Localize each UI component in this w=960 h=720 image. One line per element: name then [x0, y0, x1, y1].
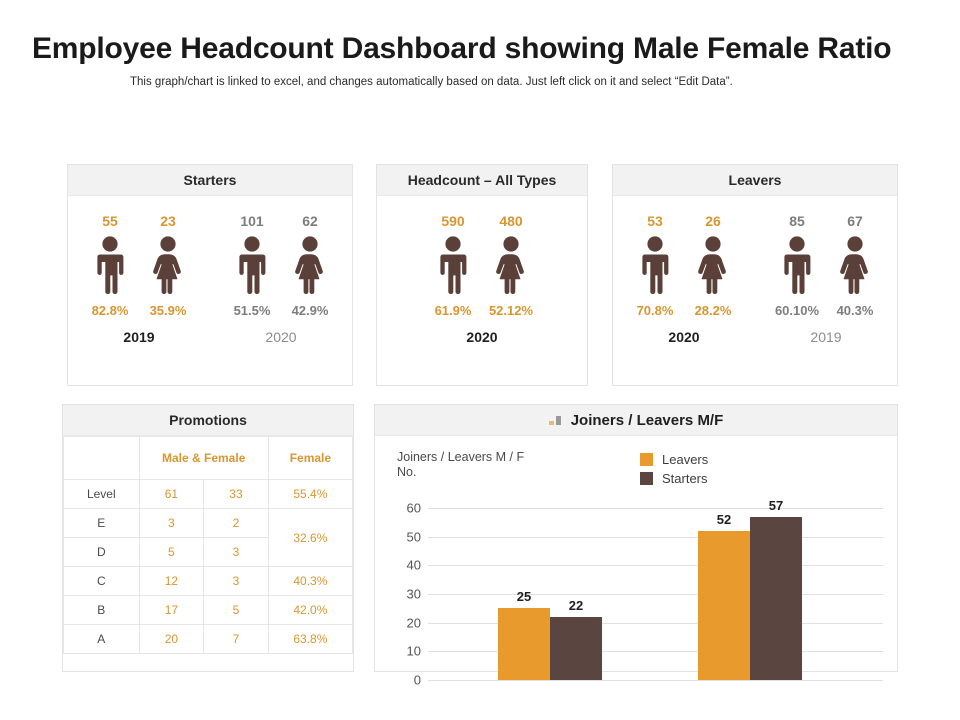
year-label: 2020 — [466, 329, 497, 345]
promotions-cell-percent: 32.6% — [268, 509, 352, 567]
male-figure-icon — [92, 236, 128, 294]
panel-headcount: Headcount – All Types 59061.9%48052.12%2… — [376, 164, 588, 386]
pictogram-female: 6740.3% — [826, 196, 884, 319]
panel-promotions-title: Promotions — [63, 405, 353, 436]
female-figure-icon — [292, 236, 328, 294]
promotions-table-body: Level613355.4%E3232.6%D53C12340.3%B17542… — [64, 480, 353, 654]
chart-axis-title: Joiners / Leavers M / F No. — [397, 450, 524, 480]
year-label: 2020 — [265, 329, 296, 345]
chart-axis-title-line1: Joiners / Leavers M / F — [397, 450, 524, 465]
male-figure-icon — [234, 236, 270, 294]
pictogram-male: 10151.5% — [223, 196, 281, 319]
promotions-cell-male-female: 17 — [139, 596, 204, 625]
pictogram-percent: 40.3% — [837, 302, 874, 319]
pictogram-male: 59061.9% — [424, 196, 482, 319]
pictogram-percent: 51.5% — [234, 302, 271, 319]
promotions-cell-percent: 55.4% — [268, 480, 352, 509]
leavers-pictogram-row: 5370.8%2628.2%20208560.10%6740.3%2019 — [613, 196, 897, 386]
female-figure-icon — [493, 236, 529, 294]
panel-starters-body: 5582.8%2335.9%201910151.5%6242.9%2020 — [68, 196, 352, 386]
pictogram-male: 5582.8% — [81, 196, 139, 319]
promotions-cell-level: Level — [64, 480, 140, 509]
promotions-cell-percent: 42.0% — [268, 596, 352, 625]
male-figure-icon — [435, 236, 471, 294]
panel-promotions: Promotions Male & Female Female Level613… — [62, 404, 354, 672]
bar-starters[interactable] — [550, 617, 602, 680]
pictogram-male: 8560.10% — [768, 196, 826, 319]
promotions-cell-male-female: 12 — [139, 567, 204, 596]
table-row: Level613355.4% — [64, 480, 353, 509]
promotions-cell-male-female: 61 — [139, 480, 204, 509]
starters-pictogram-row: 5582.8%2335.9%201910151.5%6242.9%2020 — [68, 196, 352, 386]
year-label: 2020 — [668, 329, 699, 345]
chart-plot-area: 6050403020100 25225257 — [395, 508, 883, 680]
promotions-table-head: Male & Female Female — [64, 437, 353, 480]
female-figure-icon — [695, 236, 731, 294]
promotions-cell-female: 33 — [204, 480, 269, 509]
pictogram-count: 67 — [847, 212, 863, 230]
pictogram-figure — [493, 232, 529, 294]
legend-swatch-icon — [640, 453, 653, 466]
promotions-cell-level: A — [64, 625, 140, 654]
panel-leavers-title: Leavers — [613, 165, 897, 196]
pictogram-figure — [234, 232, 270, 294]
panel-starters-title: Starters — [68, 165, 352, 196]
panel-joiners-leavers-chart: Joiners / Leavers M/F Joiners / Leavers … — [374, 404, 898, 672]
y-tick-label: 20 — [407, 615, 421, 630]
promotions-header-male-female: Male & Female — [139, 437, 268, 480]
chart-bars: 25225257 — [428, 508, 883, 680]
pictogram-male: 5370.8% — [626, 196, 684, 319]
pictogram-figure — [837, 232, 873, 294]
female-figure-icon — [837, 236, 873, 294]
year-group-2020: 5370.8%2628.2%2020 — [626, 196, 742, 345]
male-figure-icon — [637, 236, 673, 294]
bar-value-label: 25 — [498, 589, 550, 604]
pictogram-count: 62 — [302, 212, 318, 230]
pictogram-percent: 52.12% — [489, 302, 533, 319]
bar-leavers[interactable] — [698, 531, 750, 680]
promotions-cell-level: C — [64, 567, 140, 596]
bar-value-label: 57 — [750, 498, 802, 513]
promotions-cell-percent: 63.8% — [268, 625, 352, 654]
pictogram-pair: 8560.10%6740.3% — [768, 196, 884, 319]
male-figure-icon — [779, 236, 815, 294]
panel-leavers-body: 5370.8%2628.2%20208560.10%6740.3%2019 — [613, 196, 897, 386]
pictogram-count: 23 — [160, 212, 176, 230]
bar-leavers[interactable] — [498, 608, 550, 680]
chart-y-axis-labels: 6050403020100 — [395, 508, 421, 680]
table-row: C12340.3% — [64, 567, 353, 596]
chart-legend: LeaversStarters — [640, 450, 708, 488]
pictogram-female: 48052.12% — [482, 196, 540, 319]
pictogram-figure — [292, 232, 328, 294]
pictogram-percent: 70.8% — [637, 302, 674, 319]
year-label: 2019 — [123, 329, 154, 345]
year-group-2019: 8560.10%6740.3%2019 — [768, 196, 884, 345]
pictogram-count: 55 — [102, 212, 118, 230]
pictogram-figure — [695, 232, 731, 294]
pictogram-percent: 42.9% — [292, 302, 329, 319]
legend-label: Leavers — [662, 452, 708, 467]
female-figure-icon — [150, 236, 186, 294]
panel-promotions-body: Male & Female Female Level613355.4%E3232… — [63, 436, 353, 672]
table-row: A20763.8% — [64, 625, 353, 654]
promotions-cell-male-female: 20 — [139, 625, 204, 654]
pictogram-count: 85 — [789, 212, 805, 230]
year-group-2020: 59061.9%48052.12%2020 — [424, 196, 540, 345]
year-group-2020: 10151.5%6242.9%2020 — [223, 196, 339, 345]
bar-value-label: 22 — [550, 598, 602, 613]
promotions-table: Male & Female Female Level613355.4%E3232… — [63, 436, 353, 654]
promotions-cell-female: 3 — [204, 567, 269, 596]
year-group-2019: 5582.8%2335.9%2019 — [81, 196, 197, 345]
y-tick-label: 30 — [407, 587, 421, 602]
pictogram-pair: 5582.8%2335.9% — [81, 196, 197, 319]
y-tick-label: 50 — [407, 529, 421, 544]
pictogram-female: 2335.9% — [139, 196, 197, 319]
table-row: E3232.6% — [64, 509, 353, 538]
panel-headcount-body: 59061.9%48052.12%2020 — [377, 196, 587, 386]
promotions-cell-female: 7 — [204, 625, 269, 654]
pictogram-pair: 10151.5%6242.9% — [223, 196, 339, 319]
promotions-cell-male-female: 5 — [139, 538, 204, 567]
pictogram-figure — [92, 232, 128, 294]
pictogram-female: 2628.2% — [684, 196, 742, 319]
promotions-cell-level: E — [64, 509, 140, 538]
panel-headcount-title: Headcount – All Types — [377, 165, 587, 196]
promotions-cell-female: 2 — [204, 509, 269, 538]
pictogram-count: 53 — [647, 212, 663, 230]
pictogram-percent: 28.2% — [695, 302, 732, 319]
promotions-header-blank — [64, 437, 140, 480]
promotions-header-female: Female — [268, 437, 352, 480]
chart-title: Joiners / Leavers M/F — [571, 412, 724, 429]
gridline — [428, 680, 883, 681]
promotions-cell-female: 3 — [204, 538, 269, 567]
legend-swatch-icon — [640, 472, 653, 485]
chart-axis-title-line2: No. — [397, 465, 524, 480]
chart-header: Joiners / Leavers M/F — [375, 405, 897, 436]
pictogram-pair: 5370.8%2628.2% — [626, 196, 742, 319]
pictogram-percent: 60.10% — [775, 302, 819, 319]
legend-item-leavers[interactable]: Leavers — [640, 450, 708, 469]
pictogram-count: 480 — [499, 212, 522, 230]
pictogram-figure — [435, 232, 471, 294]
y-tick-label: 10 — [407, 644, 421, 659]
bar-starters[interactable] — [750, 517, 802, 680]
promotions-header-row: Male & Female Female — [64, 437, 353, 480]
y-tick-label: 60 — [407, 501, 421, 516]
promotions-cell-level: D — [64, 538, 140, 567]
pictogram-figure — [150, 232, 186, 294]
panel-starters: Starters 5582.8%2335.9%201910151.5%6242.… — [67, 164, 353, 386]
pictogram-count: 101 — [240, 212, 263, 230]
headcount-pictogram-row: 59061.9%48052.12%2020 — [377, 196, 587, 386]
pictogram-percent: 35.9% — [150, 302, 187, 319]
pictogram-percent: 82.8% — [92, 302, 129, 319]
chart-grid-area: 25225257 — [428, 508, 883, 680]
pictogram-figure — [637, 232, 673, 294]
y-tick-label: 40 — [407, 558, 421, 573]
year-label: 2019 — [810, 329, 841, 345]
pictogram-pair: 59061.9%48052.12% — [424, 196, 540, 319]
promotions-cell-level: B — [64, 596, 140, 625]
legend-item-starters[interactable]: Starters — [640, 469, 708, 488]
promotions-cell-male-female: 3 — [139, 509, 204, 538]
pictogram-figure — [779, 232, 815, 294]
chart-body: Joiners / Leavers M / F No. LeaversStart… — [375, 436, 897, 672]
pictogram-count: 590 — [441, 212, 464, 230]
y-tick-label: 0 — [414, 673, 421, 688]
mini-bar-chart-icon — [549, 415, 561, 425]
pictogram-count: 26 — [705, 212, 721, 230]
promotions-cell-percent: 40.3% — [268, 567, 352, 596]
pictogram-percent: 61.9% — [435, 302, 472, 319]
page-title: Employee Headcount Dashboard showing Mal… — [32, 32, 932, 66]
legend-label: Starters — [662, 471, 708, 486]
panel-leavers: Leavers 5370.8%2628.2%20208560.10%6740.3… — [612, 164, 898, 386]
table-row: B17542.0% — [64, 596, 353, 625]
bar-value-label: 52 — [698, 512, 750, 527]
promotions-cell-female: 5 — [204, 596, 269, 625]
page-subtitle: This graph/chart is linked to excel, and… — [130, 76, 890, 88]
pictogram-female: 6242.9% — [281, 196, 339, 319]
